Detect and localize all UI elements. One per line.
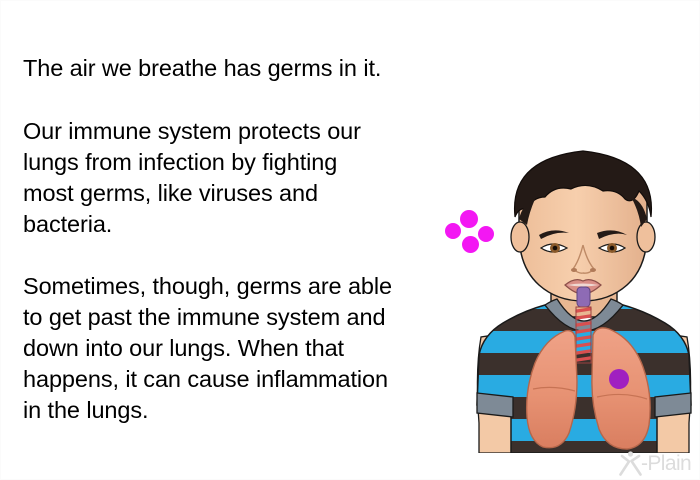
x-figure-icon: [619, 450, 642, 476]
germ-dot: [478, 226, 494, 242]
germ-in-lung: [609, 369, 629, 389]
head: [511, 151, 655, 301]
ear-left: [511, 222, 529, 252]
paragraph-inflammation: Sometimes, though, germs are able to get…: [23, 271, 475, 426]
larynx: [577, 287, 590, 307]
ear-right: [637, 222, 655, 252]
paragraph-immune-system: Our immune system protects our lungs fro…: [23, 116, 475, 240]
xplain-logo: -Plain: [619, 448, 695, 478]
sleeve-cuff-left: [477, 393, 513, 417]
paragraph-air-germs: The air we breathe has germs in it.: [23, 53, 475, 84]
text-content: The air we breathe has germs in it. Our …: [23, 53, 475, 426]
sleeve-cuff-right: [655, 393, 691, 417]
logo-text: -Plain: [641, 453, 691, 474]
boy-anatomy-illustration: [467, 141, 700, 453]
slide-canvas: The air we breathe has germs in it. Our …: [0, 0, 700, 480]
